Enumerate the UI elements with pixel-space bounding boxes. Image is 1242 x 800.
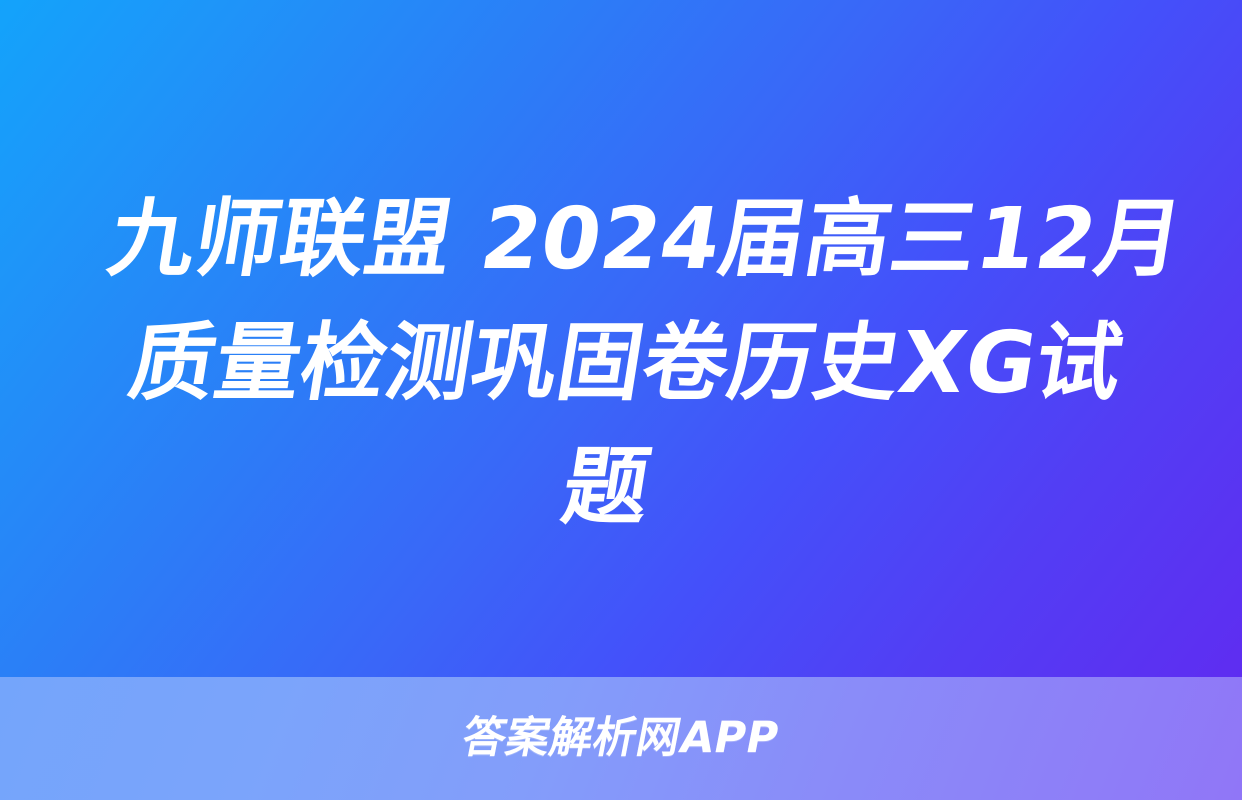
cover-title-block: 九师联盟 2024届高三12月质量检测巩固卷历史XG试题 xyxy=(88,178,1164,550)
watermark-band: 答案解析网APP xyxy=(0,677,1242,800)
page-title: 九师联盟 2024届高三12月质量检测巩固卷历史XG试题 xyxy=(59,178,1194,550)
exam-cover-card: 九师联盟 2024届高三12月质量检测巩固卷历史XG试题 答案解析网APP xyxy=(0,0,1242,800)
watermark-label: 答案解析网APP xyxy=(459,717,783,760)
